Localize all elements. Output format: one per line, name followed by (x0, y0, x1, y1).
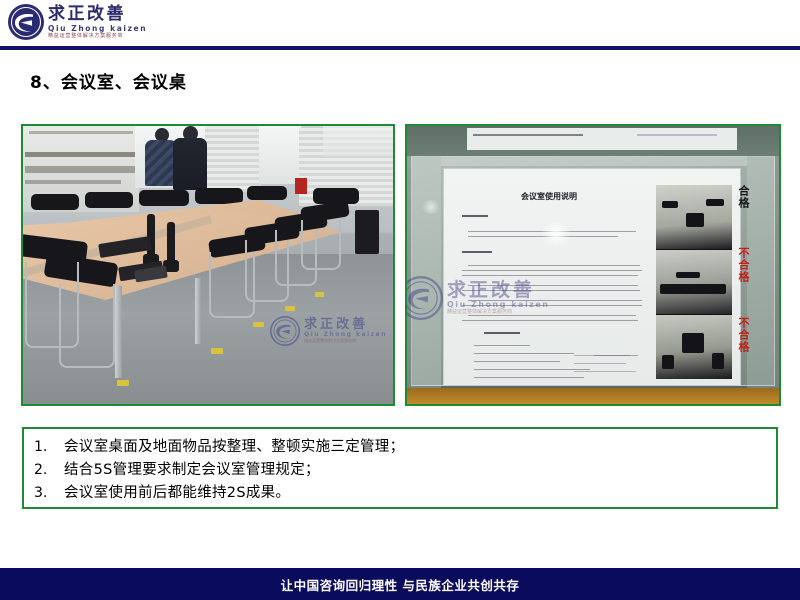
example-photo-ok (656, 185, 732, 249)
notes-box: 1. 会议室桌面及地面物品按整理、整顿实施三定管理； 2. 结合5S管理要求制定… (22, 427, 778, 509)
note-item: 2. 结合5S管理要求制定会议室管理规定； (34, 458, 776, 481)
brand-tagline: 精益运营整体解决方案服务商 (48, 33, 147, 40)
notice-board-title: 会议室使用说明 (444, 191, 654, 202)
swoosh-circle-logo-icon (7, 3, 45, 41)
slide-root: 求正改善 Qiu Zhong kaizen 精益运营整体解决方案服务商 8、会议… (0, 0, 800, 600)
photo-conference-room-content: 求正改善 Qiu Zhong kaizen 精益运营整体解决方案服务商 (23, 126, 393, 404)
status-label-qualified: 合格 (734, 185, 750, 209)
photo-meeting-room-notice: 会议室使用说明 (405, 124, 781, 406)
header-divider (0, 46, 800, 50)
note-number: 3. (34, 485, 64, 501)
status-label-unqualified-2: 不合格 (734, 317, 750, 353)
status-label-unqualified-1: 不合格 (734, 247, 750, 283)
example-photo-ng-2 (656, 315, 732, 379)
slide-header: 求正改善 Qiu Zhong kaizen 精益运营整体解决方案服务商 (0, 0, 800, 50)
brand-logo: 求正改善 Qiu Zhong kaizen 精益运营整体解决方案服务商 (7, 3, 147, 41)
note-number: 2. (34, 462, 64, 478)
slide-footer: 让中国咨询回归理性 与民族企业共创共存 (0, 568, 800, 600)
notice-board: 会议室使用说明 (443, 168, 741, 386)
note-text: 结合5S管理要求制定会议室管理规定； (64, 458, 320, 479)
brand-name-cn: 求正改善 (48, 5, 147, 24)
note-item: 1. 会议室桌面及地面物品按整理、整顿实施三定管理； (34, 435, 776, 458)
example-photo-ng-1 (656, 250, 732, 314)
notice-board-photos (656, 185, 732, 379)
footer-slogan: 让中国咨询回归理性 与民族企业共创共存 (281, 575, 520, 594)
note-text: 会议室桌面及地面物品按整理、整顿实施三定管理； (64, 435, 404, 456)
brand-logo-text: 求正改善 Qiu Zhong kaizen 精益运营整体解决方案服务商 (48, 5, 147, 40)
brand-name-en: Qiu Zhong kaizen (48, 24, 147, 33)
photo-conference-room: 求正改善 Qiu Zhong kaizen 精益运营整体解决方案服务商 (21, 124, 395, 406)
note-number: 1. (34, 439, 64, 455)
note-text: 会议室使用前后都能维持2S成果。 (64, 481, 290, 502)
page-title: 8、会议室、会议桌 (30, 68, 187, 93)
photo-meeting-room-notice-content: 会议室使用说明 (407, 126, 779, 404)
note-item: 3. 会议室使用前后都能维持2S成果。 (34, 481, 776, 504)
